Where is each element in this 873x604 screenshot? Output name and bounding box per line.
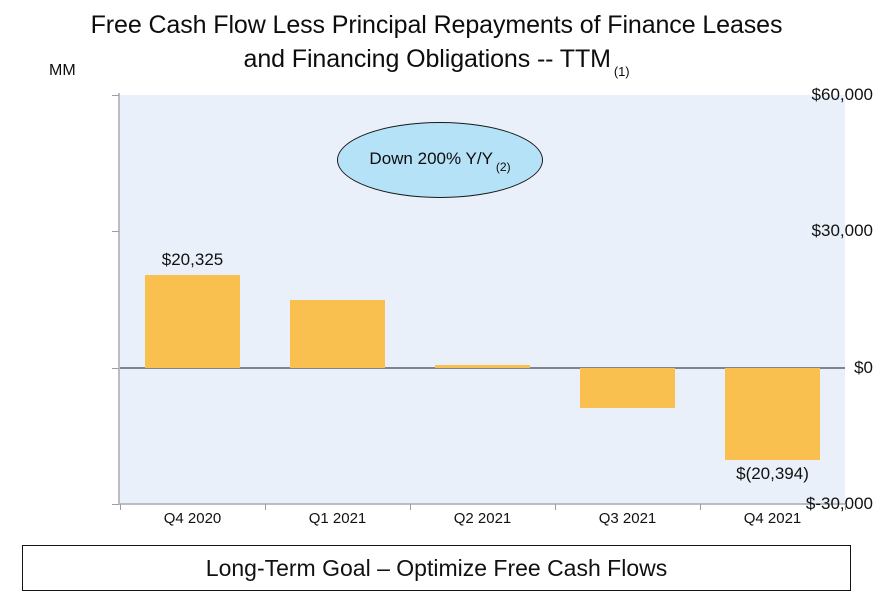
- y-axis-unit-label: MM: [49, 62, 76, 80]
- x-tick-mark: [555, 504, 556, 510]
- y-tick-mark: [112, 368, 119, 369]
- chart-title-line-2: and Financing Obligations -- TTM(1): [0, 42, 873, 86]
- x-tick-mark: [700, 504, 701, 510]
- footer-banner-text: Long-Term Goal – Optimize Free Cash Flow…: [206, 555, 667, 582]
- y-tick-label: $30,000: [769, 221, 873, 241]
- x-tick-mark: [265, 504, 266, 510]
- bar-value-label: $20,325: [162, 250, 223, 270]
- down-yoy-callout-footnote: (2): [496, 160, 511, 174]
- x-tick-label: Q4 2020: [164, 510, 222, 527]
- y-tick-mark: [112, 504, 119, 505]
- bar: [725, 368, 821, 461]
- x-tick-mark: [410, 504, 411, 510]
- chart-title-line-2-text: and Financing Obligations -- TTM: [244, 45, 611, 73]
- y-tick-mark: [112, 95, 119, 96]
- bar: [290, 300, 386, 367]
- down-yoy-callout: Down 200% Y/Y(2): [337, 122, 543, 198]
- y-tick-mark: [112, 231, 119, 232]
- y-tick-label: $60,000: [769, 85, 873, 105]
- y-axis-line: [118, 93, 120, 505]
- bar-value-label: $(20,394): [736, 464, 809, 484]
- title-footnote-marker: (1): [614, 64, 630, 79]
- x-tick-label: Q2 2021: [454, 510, 512, 527]
- x-tick-label: Q3 2021: [599, 510, 657, 527]
- chart-title: Free Cash Flow Less Principal Repayments…: [0, 8, 873, 86]
- bar: [435, 365, 531, 368]
- x-tick-mark: [120, 504, 121, 510]
- bar: [580, 368, 676, 408]
- chart-title-line-1: Free Cash Flow Less Principal Repayments…: [0, 8, 873, 42]
- x-tick-label: Q1 2021: [309, 510, 367, 527]
- x-axis-line: [118, 503, 845, 505]
- x-tick-mark: [845, 504, 846, 510]
- down-yoy-callout-label: Down 200% Y/Y: [369, 149, 492, 168]
- down-yoy-callout-text: Down 200% Y/Y(2): [369, 149, 510, 171]
- footer-banner: Long-Term Goal – Optimize Free Cash Flow…: [22, 545, 851, 591]
- bar: [145, 275, 241, 367]
- x-tick-label: Q4 2021: [744, 510, 802, 527]
